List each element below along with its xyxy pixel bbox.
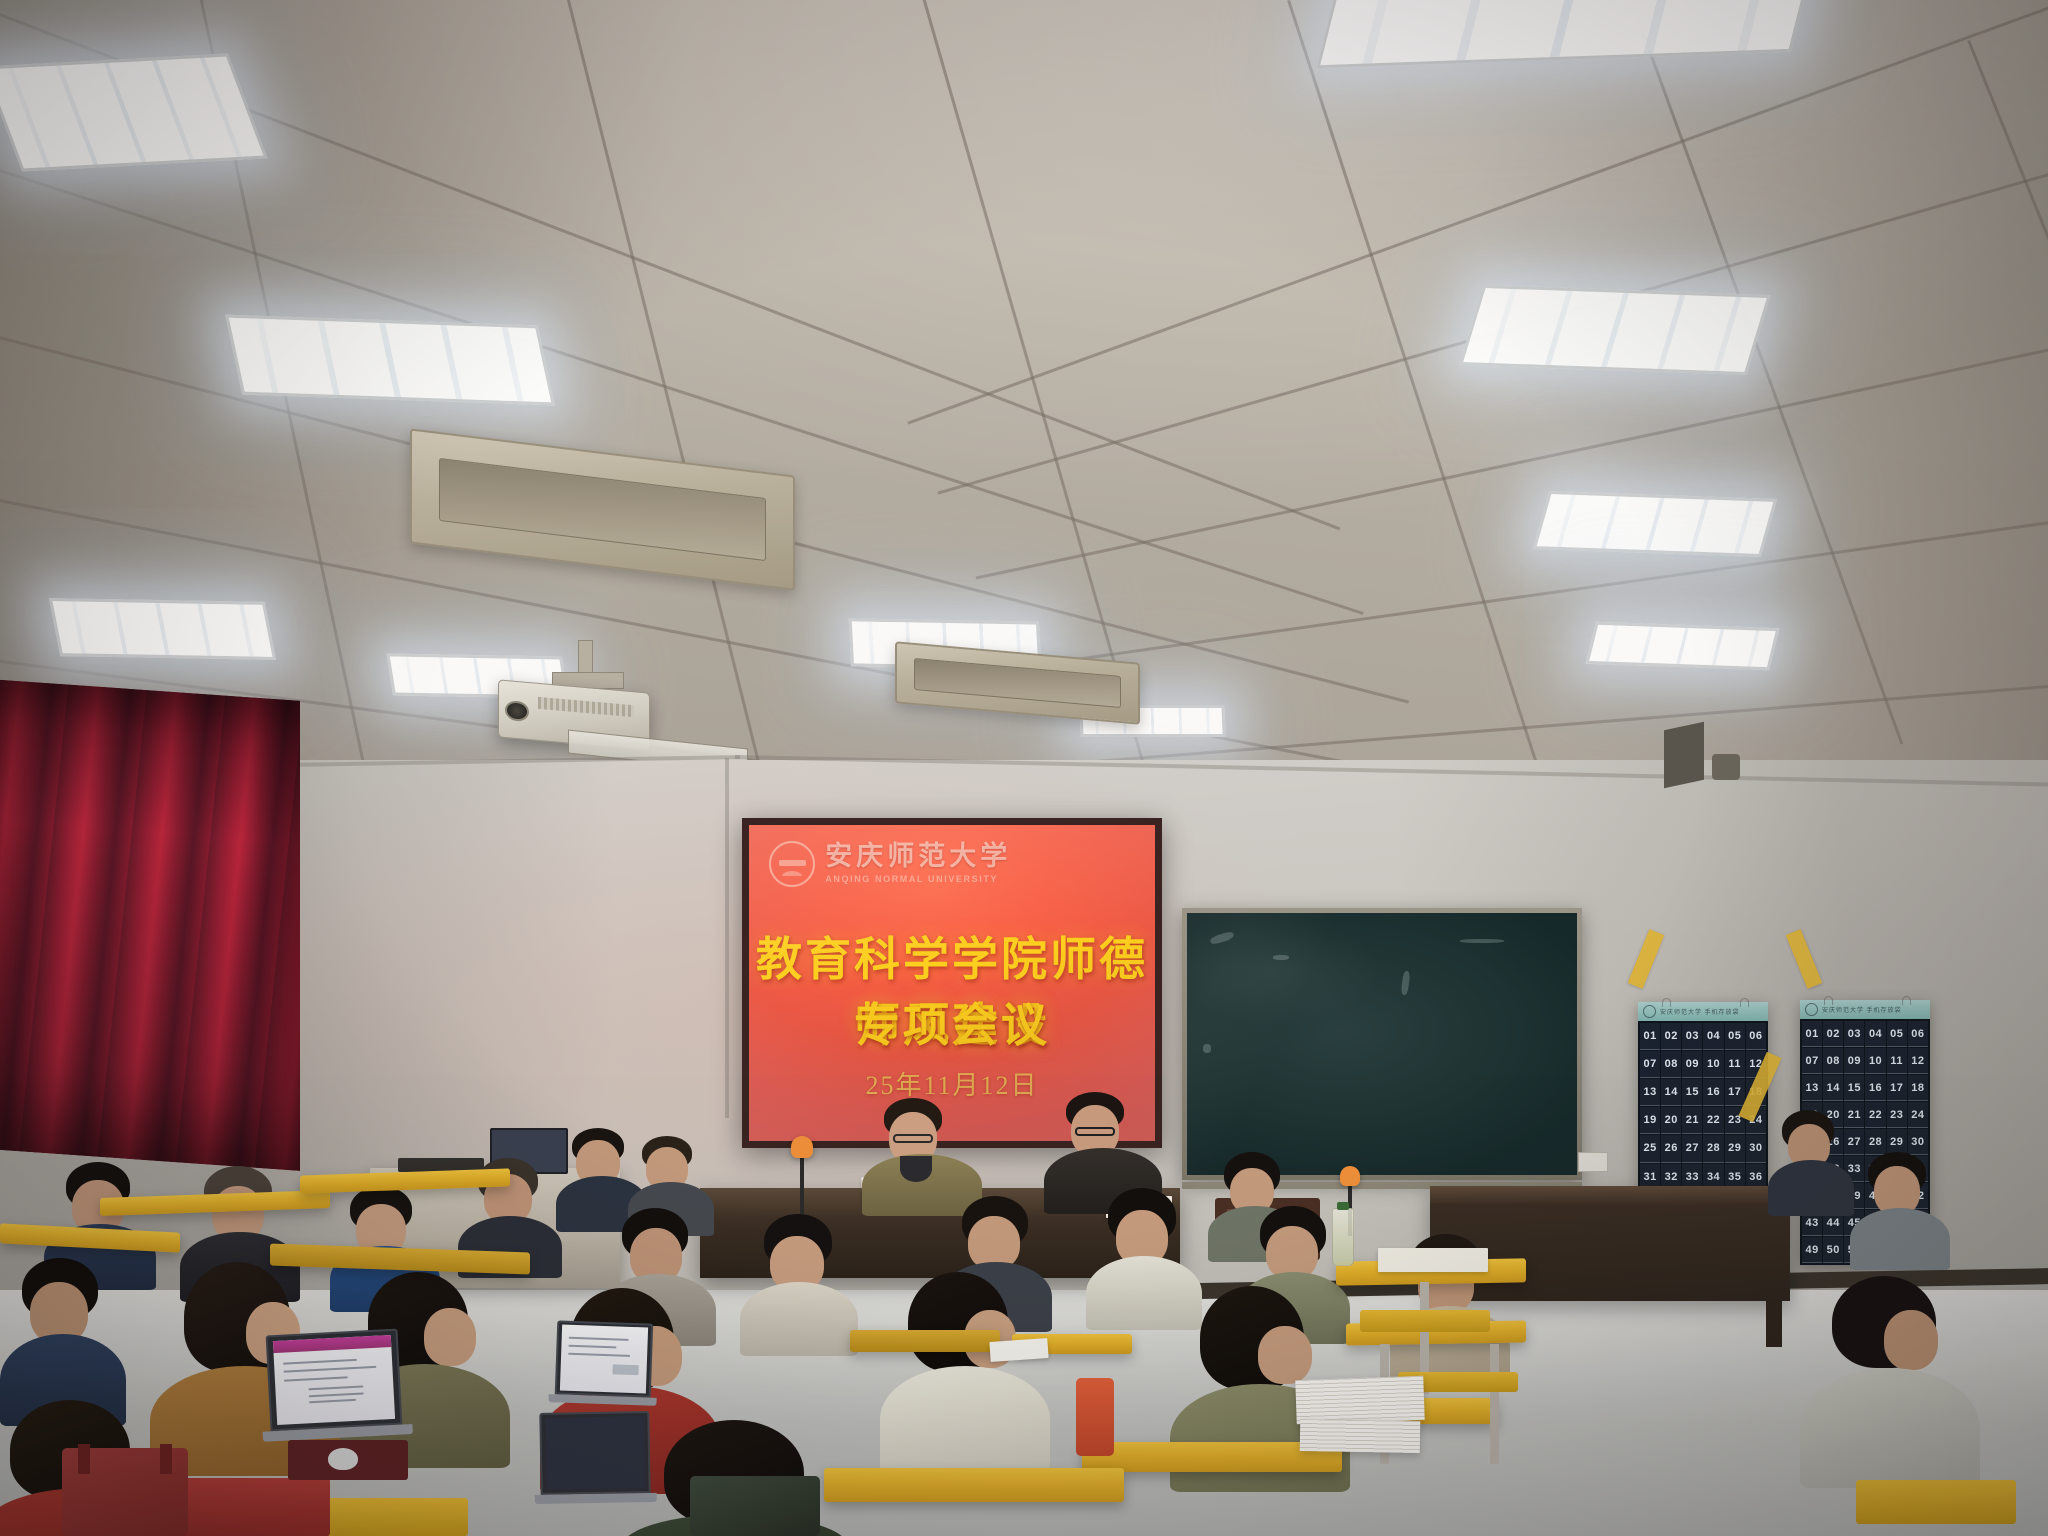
pocket-number-cell: 03 [1844,1021,1864,1047]
pocket-number-cell: 12 [1908,1048,1928,1074]
screen-text-line [308,1385,363,1390]
pocket-number-cell: 20 [1661,1107,1681,1134]
ceiling-light-panel [0,54,267,172]
chalk-mark [1400,970,1410,995]
laptop-screen [545,1416,645,1490]
head [1884,1310,1938,1370]
audience-member [740,1214,858,1346]
pocket-number-cell: 16 [1865,1075,1885,1101]
screen-text-line [309,1399,357,1403]
student-desk [850,1330,1000,1352]
head [1258,1326,1312,1384]
bag-strap [78,1444,90,1474]
pocket-number-cell: 28 [1703,1135,1723,1162]
pocket-number-cell: 04 [1865,1021,1885,1047]
pocket-number-cell: 49 [1802,1237,1822,1263]
student-desk [824,1468,1124,1502]
laptop[interactable] [266,1329,403,1432]
ceiling-light-panel [1533,491,1777,557]
ceiling-light-panel [225,315,555,406]
slide-title-line-2: 专项会议 [749,989,1155,1055]
pocket-number-cell: 26 [1661,1135,1681,1162]
pocket-number-cell: 02 [1823,1021,1843,1047]
poster-hook-icon [1740,998,1749,1007]
meeting-room-photo: 安庆师范大学 ANQING NORMAL UNIVERSITY 教育科学学院师德… [0,0,2048,1536]
bag-strap [160,1444,172,1474]
audience-member [880,1272,1050,1468]
screen-text-line [309,1392,364,1397]
eyeglasses-icon [893,1134,933,1143]
pocket-number-cell: 09 [1682,1051,1702,1078]
chalk-mark [1210,930,1235,945]
poster-header-text-left: 安庆师范大学 手机存放袋 [1660,1007,1740,1016]
handbag [62,1448,188,1536]
projector-vents [538,697,634,717]
classroom-chair[interactable] [1856,1480,2016,1524]
pocket-number-cell: 01 [1802,1021,1822,1047]
pocket-number-cell: 11 [1887,1048,1907,1074]
pocket-number-cell: 16 [1703,1079,1723,1106]
stage-curtain [0,679,300,1171]
torso [1768,1160,1854,1216]
pocket-number-cell: 18 [1908,1075,1928,1101]
pocket-number-cell: 11 [1725,1051,1745,1078]
ceiling-light-panel [49,598,276,660]
pocket-number-cell: 10 [1865,1048,1885,1074]
blackboard [1187,913,1577,1175]
microphone-head[interactable] [1340,1166,1360,1186]
table-leg [1766,1299,1782,1347]
screen-text-line [568,1337,629,1341]
screen-text-line [284,1376,348,1381]
pocket-number-cell: 05 [1887,1021,1907,1047]
collar [900,1156,932,1182]
ceiling-light-panel [1586,622,1780,670]
poster-hook-icon [1662,998,1671,1007]
pocket-number-cell: 30 [1746,1135,1766,1162]
pocket-number-cell: 15 [1682,1079,1702,1106]
pocket-number-cell: 07 [1802,1048,1822,1074]
microphone-stem [800,1152,804,1214]
university-logo: 安庆师范大学 ANQING NORMAL UNIVERSITY [769,841,1011,887]
classroom-chair[interactable] [318,1498,468,1536]
computer-mouse[interactable] [328,1448,358,1470]
screen-text-line [612,1365,638,1376]
document-sheet [989,1338,1048,1362]
pocket-number-cell: 24 [1908,1102,1928,1128]
pocket-number-cell: 01 [1640,1023,1660,1050]
bottle-cap [1337,1202,1348,1210]
blackboard-frame [1182,908,1582,1180]
laptop[interactable] [539,1411,650,1495]
poster-hook-icon [1902,996,1911,1005]
pocket-number-cell: 08 [1661,1051,1681,1078]
audience-member [1850,1152,1950,1262]
pocket-number-cell: 27 [1682,1135,1702,1162]
chalk-mark [1273,955,1289,960]
pocket-number-cell: 09 [1844,1048,1864,1074]
torso [1850,1208,1950,1270]
ceiling-light-panel [1459,285,1770,375]
chalk-mark [1203,1044,1211,1053]
audience-member [0,1258,126,1418]
laptop-screen [560,1325,649,1393]
university-name-en: ANQING NORMAL UNIVERSITY [825,874,1011,884]
projector-lens [505,700,529,722]
screen-text-line [284,1366,377,1373]
chalk-mark [1460,939,1504,943]
pocket-number-cell: 50 [1823,1237,1843,1263]
poster-header-text-right: 安庆师范大学 手机存放袋 [1822,1005,1902,1014]
pocket-number-cell: 21 [1682,1107,1702,1134]
pocket-number-cell: 14 [1661,1079,1681,1106]
pocket-number-cell: 17 [1887,1075,1907,1101]
pocket-number-cell: 06 [1908,1021,1928,1047]
screen-text-line [568,1353,630,1357]
pocket-number-cell: 14 [1823,1075,1843,1101]
pocket-number-cell: 07 [1640,1051,1660,1078]
wall-bracket [1664,722,1704,789]
pocket-number-cell: 02 [1661,1023,1681,1050]
screen-text-line [283,1359,357,1365]
laptop-screen [272,1335,395,1426]
paper-stack [1300,1419,1421,1453]
thermos-cup [1076,1378,1114,1456]
poster-seal-icon [1805,1003,1818,1016]
pocket-number-cell: 17 [1725,1079,1745,1106]
backpack [690,1476,820,1536]
microphone-head[interactable] [791,1136,813,1158]
water-bottle [1332,1208,1354,1266]
pocket-number-cell: 29 [1725,1135,1745,1162]
open-notebook [1378,1248,1488,1272]
poster-seal-icon [1643,1005,1656,1018]
pocket-number-cell: 13 [1802,1075,1822,1101]
pocket-number-cell: 13 [1640,1079,1660,1106]
university-seal-icon [769,841,815,887]
pocket-number-cell: 19 [1640,1107,1660,1134]
classroom-chair[interactable] [1360,1310,1490,1332]
presenter-left [862,1098,982,1208]
pocket-number-cell: 10 [1703,1051,1723,1078]
wall-pillar-edge [725,758,729,1118]
torso [740,1282,858,1356]
poster-hook-icon [1824,996,1833,1005]
screen-text-line [568,1345,616,1349]
torso [1800,1368,1980,1488]
audience-member [1800,1276,1980,1486]
eyeglasses-icon [1075,1127,1115,1136]
ac-grill [439,458,767,560]
pocket-number-cell: 22 [1703,1107,1723,1134]
desk-leg [1490,1344,1499,1464]
wall-switch-plate[interactable] [1578,1152,1608,1172]
pocket-number-cell: 08 [1823,1048,1843,1074]
pocket-number-cell: 04 [1703,1023,1723,1050]
pocket-number-cell: 15 [1844,1075,1864,1101]
head [424,1308,476,1366]
ac-grill [914,658,1121,709]
pocket-number-cell: 22 [1865,1102,1885,1128]
side-table-top [1430,1186,1790,1203]
slide-title-line-1: 教育科学学院师德师风建设 [749,923,1155,1055]
wall-bracket [1712,754,1740,780]
pocket-number-cell: 23 [1887,1102,1907,1128]
pocket-number-cell: 06 [1746,1023,1766,1050]
pocket-number-cell: 25 [1640,1135,1660,1162]
paper-stack [1295,1376,1424,1424]
pocket-number-cell: 03 [1682,1023,1702,1050]
laptop[interactable] [555,1320,654,1397]
pocket-number-cell: 05 [1725,1023,1745,1050]
university-name-cn: 安庆师范大学 [825,843,1011,870]
torso [880,1366,1050,1472]
audience-member [1768,1110,1854,1210]
